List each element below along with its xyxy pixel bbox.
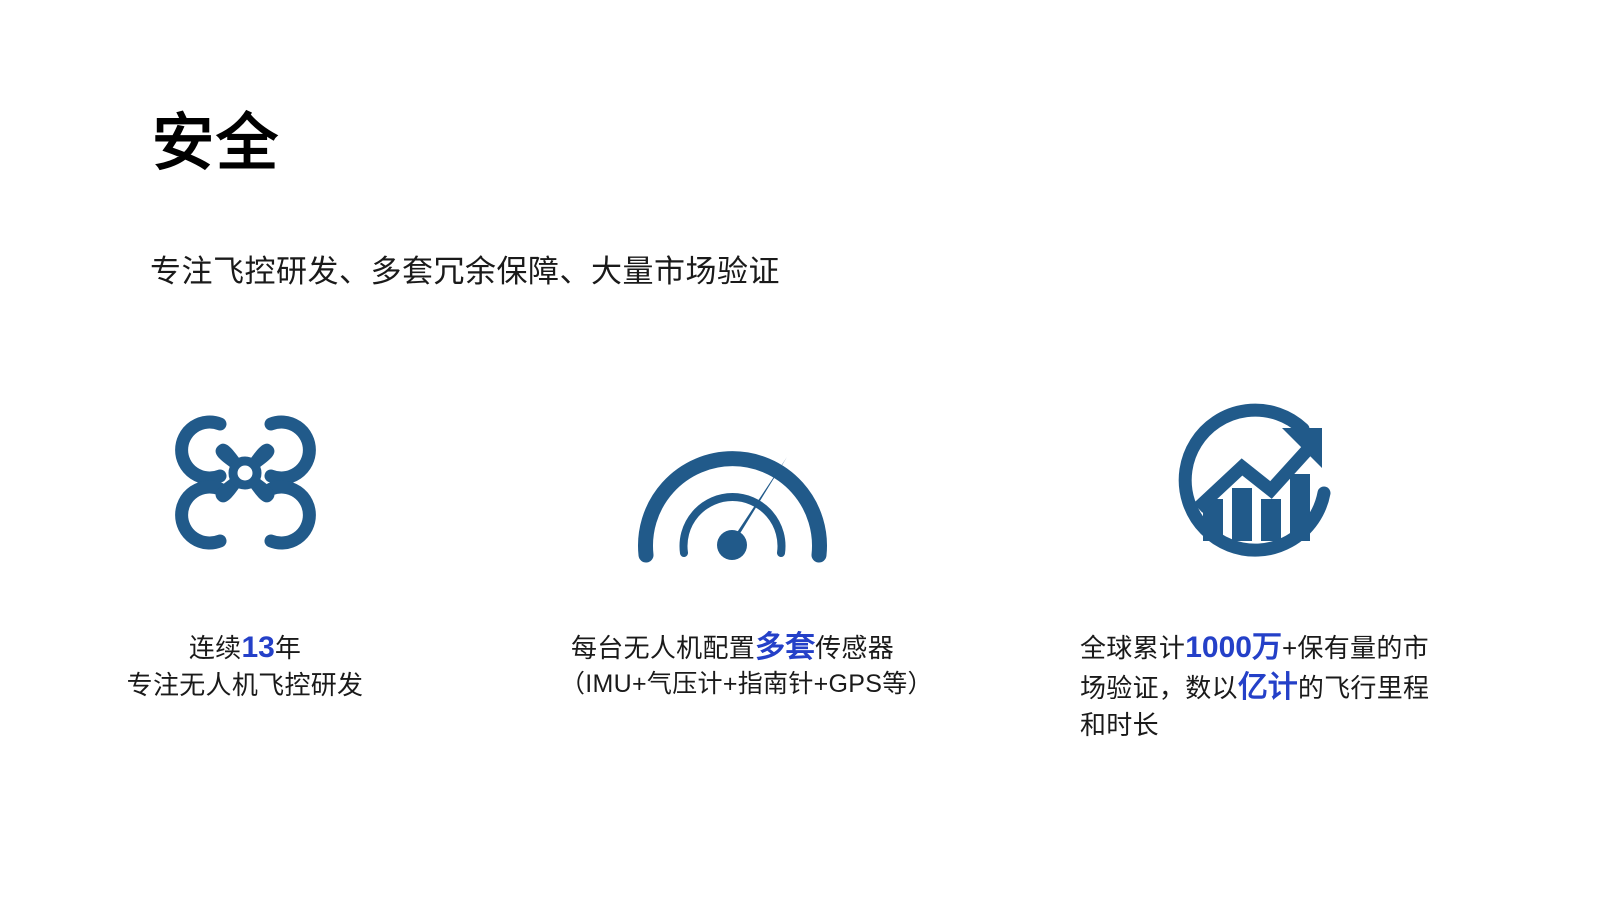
caption-line-2: 专注无人机飞控研发 [110,668,380,703]
caption-line-2: （IMU+气压计+指南针+GPS等） [560,668,905,701]
drone-icon [110,395,380,570]
feature-caption-3: 全球累计1000万+保有量的市场验证，数以亿计的飞行里程和时长 [1080,628,1430,742]
caption-text: 年 [275,633,301,663]
feature-columns: 连续13年 专注无人机飞控研发 [0,395,1600,775]
feature-column-3: 全球累计1000万+保有量的市场验证，数以亿计的飞行里程和时长 [1080,395,1430,742]
page-subtitle: 专注飞控研发、多套冗余保障、大量市场验证 [150,252,780,292]
caption-text: 每台无人机配置 [571,633,755,663]
caption-highlight: 亿计 [1238,671,1298,704]
slide: 安全 专注飞控研发、多套冗余保障、大量市场验证 [0,0,1600,900]
feature-column-1: 连续13年 专注无人机飞控研发 [110,395,380,702]
caption-text: 全球累计 [1080,633,1185,663]
caption-highlight: 多套 [755,631,815,664]
feature-caption-2: 每台无人机配置多套传感器 （IMU+气压计+指南针+GPS等） [560,628,905,701]
page-title: 安全 [152,108,280,179]
caption-flow: 全球累计1000万+保有量的市场验证，数以亿计的飞行里程和时长 [1080,628,1430,742]
feature-column-2: 每台无人机配置多套传感器 （IMU+气压计+指南针+GPS等） [560,395,905,701]
caption-highlight: 13 [241,631,274,664]
feature-caption-1: 连续13年 专注无人机飞控研发 [110,628,380,702]
growth-chart-icon [1080,395,1430,570]
caption-line-1: 连续13年 [110,628,380,668]
caption-line-1: 每台无人机配置多套传感器 [560,628,905,668]
gauge-icon [560,395,905,570]
caption-text: 连续 [189,633,242,663]
caption-highlight: 1000万 [1185,631,1282,664]
caption-text: 传感器 [815,633,894,663]
